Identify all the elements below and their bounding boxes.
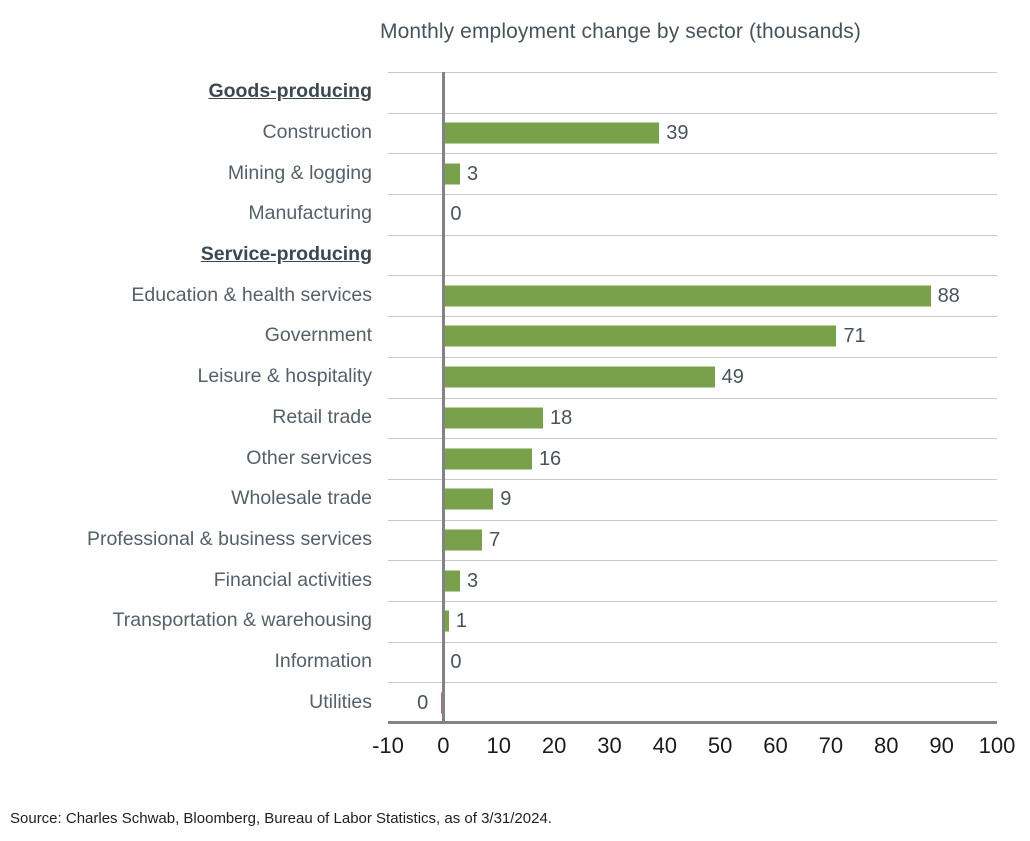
- bar-row: 3: [388, 560, 997, 601]
- bar-row: 1: [388, 601, 997, 642]
- bar: [443, 367, 714, 388]
- bar-row: 3: [388, 153, 997, 194]
- bar-value-label: 16: [539, 449, 561, 469]
- x-tick-label: 60: [763, 735, 787, 757]
- category-label: Professional & business services: [0, 530, 372, 550]
- bar: [443, 123, 659, 144]
- bar-row: 16: [388, 438, 997, 479]
- bar-rows: 39308871491816973100: [388, 72, 997, 723]
- x-axis-tick-labels: -100102030405060708090100: [388, 735, 997, 769]
- category-axis-labels: Goods-producingConstructionMining & logg…: [0, 72, 372, 723]
- bar-value-label: 0: [450, 204, 461, 224]
- x-tick-label: 70: [819, 735, 843, 757]
- bar-value-label: 7: [489, 530, 500, 550]
- bar: [443, 407, 543, 428]
- category-label: Other services: [0, 449, 372, 469]
- bar-value-label: 18: [550, 408, 572, 428]
- bar-row: 88: [388, 275, 997, 316]
- x-tick-label: 90: [929, 735, 953, 757]
- bar-value-label: 0: [417, 693, 428, 713]
- bar-value-label: 1: [456, 611, 467, 631]
- x-tick-label: 100: [979, 735, 1016, 757]
- plot-area: 39308871491816973100: [388, 72, 997, 723]
- bar: [443, 570, 460, 591]
- chart-page: Monthly employment change by sector (tho…: [0, 0, 1030, 841]
- category-label: Mining & logging: [0, 164, 372, 184]
- source-note: Source: Charles Schwab, Bloomberg, Burea…: [10, 810, 552, 827]
- category-label: Leisure & hospitality: [0, 367, 372, 387]
- bar-value-label: 39: [666, 123, 688, 143]
- bar-row: 0: [388, 682, 997, 723]
- bar: [443, 489, 493, 510]
- category-label: Wholesale trade: [0, 489, 372, 509]
- bar-value-label: 49: [722, 367, 744, 387]
- bar-value-label: 9: [500, 489, 511, 509]
- bar-row: 0: [388, 642, 997, 683]
- bar: [443, 326, 836, 347]
- x-tick-label: 40: [653, 735, 677, 757]
- bar-row: 39: [388, 113, 997, 154]
- category-label: Information: [0, 652, 372, 672]
- x-tick-label: 0: [437, 735, 449, 757]
- category-group-label: Goods-producing: [0, 82, 372, 102]
- bar-row: 0: [388, 194, 997, 235]
- category-label: Retail trade: [0, 408, 372, 428]
- category-label: Construction: [0, 123, 372, 143]
- bar-value-label: 88: [938, 286, 960, 306]
- bar-row: 18: [388, 398, 997, 439]
- bar-row: 49: [388, 357, 997, 398]
- bar: [443, 448, 532, 469]
- x-tick-label: 30: [597, 735, 621, 757]
- x-axis-line: [388, 721, 997, 724]
- bar-value-label: 3: [467, 571, 478, 591]
- category-label: Transportation & warehousing: [0, 611, 372, 631]
- bar: [443, 163, 460, 184]
- category-label: Utilities: [0, 693, 372, 713]
- category-group-label: Service-producing: [0, 245, 372, 265]
- x-tick-label: -10: [372, 735, 404, 757]
- x-tick-label: 80: [874, 735, 898, 757]
- x-tick-label: 50: [708, 735, 732, 757]
- chart-title: Monthly employment change by sector (tho…: [380, 20, 1000, 44]
- x-tick-label: 20: [542, 735, 566, 757]
- bar-value-label: 71: [843, 326, 865, 346]
- bar-row: 7: [388, 520, 997, 561]
- x-tick-label: 10: [486, 735, 510, 757]
- zero-axis-line: [442, 72, 445, 723]
- category-label: Manufacturing: [0, 204, 372, 224]
- category-label: Education & health services: [0, 286, 372, 306]
- bar-value-label: 0: [450, 652, 461, 672]
- category-label: Government: [0, 326, 372, 346]
- chart-plot-region: Goods-producingConstructionMining & logg…: [0, 60, 1030, 725]
- bar-value-label: 3: [467, 164, 478, 184]
- bar-row: 9: [388, 479, 997, 520]
- bar: [443, 285, 930, 306]
- bar: [443, 529, 482, 550]
- category-label: Financial activities: [0, 571, 372, 591]
- bar-row: 71: [388, 316, 997, 357]
